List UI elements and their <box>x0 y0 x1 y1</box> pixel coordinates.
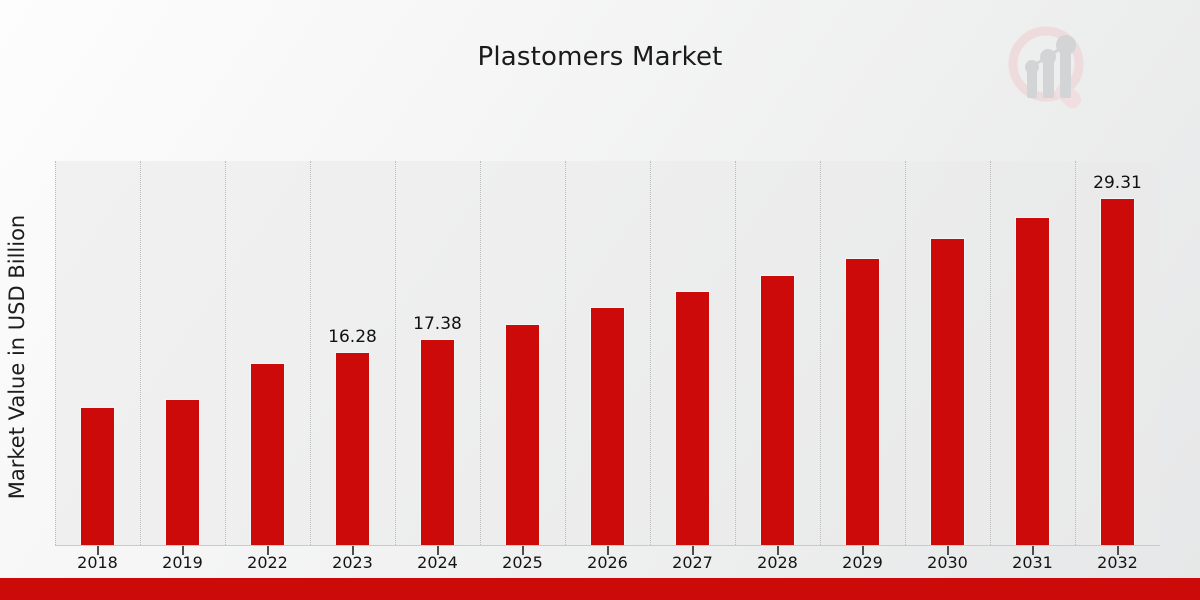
gridline <box>140 161 142 545</box>
x-axis-tick-label: 2026 <box>568 553 648 572</box>
gridline <box>820 161 822 545</box>
gridline <box>565 161 567 545</box>
bar <box>165 399 200 545</box>
bar <box>335 352 370 545</box>
bar <box>420 339 455 545</box>
bar <box>250 363 285 545</box>
bar <box>505 324 540 545</box>
x-axis-tick-label: 2023 <box>313 553 393 572</box>
x-axis-tick-label: 2018 <box>58 553 138 572</box>
gridline <box>905 161 907 545</box>
footer-band <box>0 578 1200 600</box>
bar <box>590 307 625 545</box>
gridline <box>1075 161 1077 545</box>
x-axis-tick-label: 2030 <box>908 553 988 572</box>
gridline <box>55 161 57 545</box>
bar <box>675 291 710 545</box>
x-axis-tick-label: 2028 <box>738 553 818 572</box>
bar-value-label: 16.28 <box>313 327 393 347</box>
gridline <box>990 161 992 545</box>
bar <box>1100 198 1135 545</box>
gridline <box>310 161 312 545</box>
x-axis-tick-label: 2032 <box>1078 553 1158 572</box>
bar-value-label: 17.38 <box>398 314 478 334</box>
bar <box>760 275 795 545</box>
gridline <box>650 161 652 545</box>
y-axis-title: Market Value in USD Billion <box>2 168 32 546</box>
x-axis-tick-label: 2025 <box>483 553 563 572</box>
bar-value-label: 29.31 <box>1078 173 1158 193</box>
y-axis-title-text: Market Value in USD Billion <box>5 215 29 499</box>
x-axis-tick-label: 2029 <box>823 553 903 572</box>
bar <box>80 407 115 545</box>
bar <box>1015 217 1050 545</box>
magnifier-bar-chart-logo <box>1002 22 1102 116</box>
gridline <box>225 161 227 545</box>
x-axis-tick-label: 2024 <box>398 553 478 572</box>
gridline <box>735 161 737 545</box>
x-axis-tick-label: 2022 <box>228 553 308 572</box>
chart-container: Plastomers Market Market Value in USD Bi… <box>0 0 1200 600</box>
bar <box>845 258 880 545</box>
x-axis-tick-label: 2031 <box>993 553 1073 572</box>
gridline <box>480 161 482 545</box>
x-axis-tick-label: 2027 <box>653 553 733 572</box>
x-axis-tick-label: 2019 <box>143 553 223 572</box>
bar <box>930 238 965 545</box>
plot-area <box>55 161 1160 545</box>
gridline <box>395 161 397 545</box>
